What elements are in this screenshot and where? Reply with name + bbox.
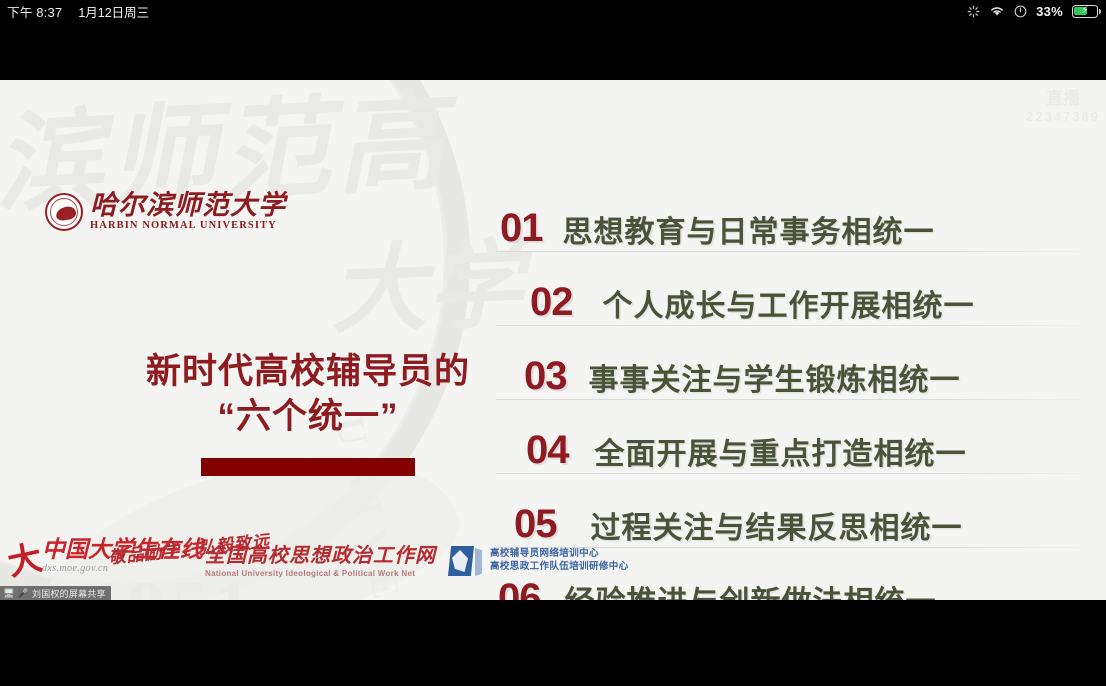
video-stage[interactable]: 滨师范高 大学 1951 UNIVERSITY 直播 22347389 哈尔滨师… xyxy=(0,22,1106,686)
title-accent-bar xyxy=(201,458,415,476)
status-time-ampm: 下午 xyxy=(7,6,32,20)
do-not-disturb-icon xyxy=(1014,5,1027,18)
list-item-number: 02 xyxy=(530,282,573,322)
charging-bolt-icon: ⚡ xyxy=(1073,6,1097,16)
training-center-logo-icon xyxy=(448,546,482,576)
microphone-icon: 🎤 xyxy=(18,589,29,598)
list-item-text: 个人成长与工作开展相统一 xyxy=(603,292,975,322)
slide-title-block: 新时代高校辅导员的 “六个统一” xyxy=(103,350,513,476)
status-bar-left: 下午 8:37 1月12日周三 xyxy=(0,2,149,21)
training-center-line1: 高校辅导员网络培训中心 xyxy=(490,548,629,561)
list-item: 04 全面开展与重点打造相统一 xyxy=(496,400,1082,474)
footer-logo-training-center-text: 高校辅导员网络培训中心 高校思政工作队伍培训研修中心 xyxy=(490,548,629,574)
list-item-text: 全面开展与重点打造相统一 xyxy=(595,440,967,470)
slide-footer: 大 中国大学生在线 dxs.moe.gov.cn 敬品励学，弘毅致远 全国高校思… xyxy=(0,530,1106,600)
slide-title-line1: 新时代高校辅导员的 xyxy=(103,350,513,395)
wifi-icon xyxy=(989,5,1005,17)
university-logo: 哈尔滨师范大学 HARBIN NORMAL UNIVERSITY xyxy=(45,192,286,232)
stream-watermark-label: 直播 xyxy=(1026,84,1100,109)
list-item: 02 个人成长与工作开展相统一 xyxy=(496,252,1082,326)
sync-spinner-icon xyxy=(967,5,980,18)
list-item: 03 事事关注与学生锻炼相统一 xyxy=(496,326,1082,400)
status-date: 1月12日周三 xyxy=(78,2,149,21)
list-item: 01 思想教育与日常事务相统一 xyxy=(496,178,1082,252)
star-person-icon: 大 xyxy=(5,541,45,581)
screen-share-label: 刘国权的屏幕共享 xyxy=(32,587,106,600)
status-time: 下午 8:37 xyxy=(7,2,62,21)
footer-logo-training-center: 高校辅导员网络培训中心 高校思政工作队伍培训研修中心 xyxy=(448,546,629,576)
list-item-text: 思想教育与日常事务相统一 xyxy=(563,218,935,248)
status-bar: 下午 8:37 1月12日周三 33% ⚡ xyxy=(0,0,1106,22)
footer-logo-nuipw-name: 全国高校思想政治工作网 xyxy=(205,546,436,566)
battery-percent: 33% xyxy=(1036,4,1063,19)
status-bar-right: 33% ⚡ xyxy=(967,4,1106,19)
list-item-text: 事事关注与学生锻炼相统一 xyxy=(589,366,961,396)
university-name-cn: 哈尔滨师范大学 xyxy=(90,192,286,219)
status-time-value: 8:37 xyxy=(36,5,62,20)
university-logo-text: 哈尔滨师范大学 HARBIN NORMAL UNIVERSITY xyxy=(90,192,286,232)
presentation-slide[interactable]: 滨师范高 大学 1951 UNIVERSITY 直播 22347389 哈尔滨师… xyxy=(0,80,1106,600)
list-item-number: 03 xyxy=(524,356,567,396)
calligraphy-mid-watermark: 大学 xyxy=(328,207,525,353)
seal-ring-inner-watermark xyxy=(0,80,447,586)
stream-watermark-id: 22347389 xyxy=(1026,109,1100,124)
battery-charging-icon: ⚡ xyxy=(1072,5,1098,18)
university-name-en: HARBIN NORMAL UNIVERSITY xyxy=(90,221,286,232)
screen-share-badge[interactable]: 🖥 🎤 刘国权的屏幕共享 xyxy=(0,586,111,600)
footer-logo-nuipw: 全国高校思想政治工作网 National University Ideologi… xyxy=(205,546,436,578)
list-item-number: 01 xyxy=(500,208,543,248)
monitor-icon: 🖥 xyxy=(3,589,15,598)
university-crest-icon xyxy=(45,193,83,231)
list-item-number: 04 xyxy=(526,430,569,470)
slide-title-line2: “六个统一” xyxy=(103,395,513,440)
seal-ring-outer-watermark xyxy=(0,80,470,600)
footer-logo-nuipw-name-en: National University Ideological & Politi… xyxy=(205,569,436,578)
stream-watermark: 直播 22347389 xyxy=(1026,84,1100,124)
training-center-line2: 高校思政工作队伍培训研修中心 xyxy=(490,561,629,574)
